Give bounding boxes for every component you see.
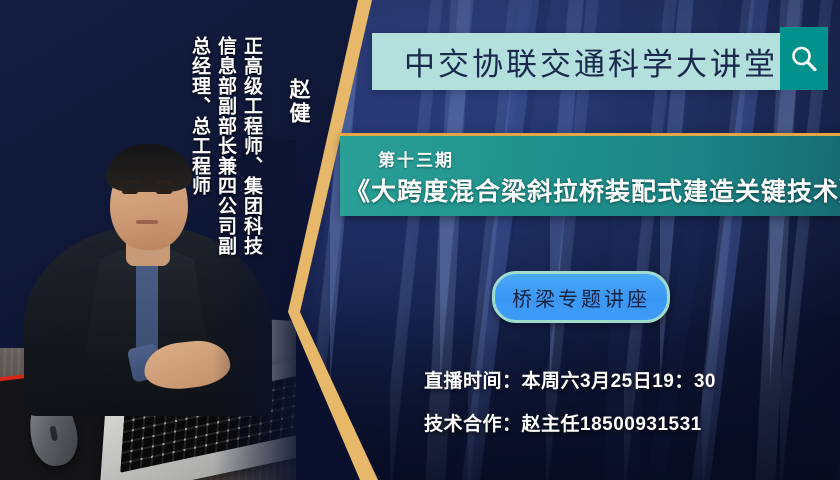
header-banner: 中交协联交通科学大讲堂 — [372, 33, 780, 90]
episode-number: 第十三期 — [378, 146, 454, 171]
contact-text: 技术合作：赵主任18500931531 — [424, 409, 702, 436]
mouth — [136, 220, 158, 224]
poster-root: 赵健 正高级工程师、集团科技 信息部副部长兼四公司副 总经理、总工程师 中交协联… — [0, 0, 840, 480]
speaker-figure — [18, 140, 278, 416]
speaker-title-line-3: 总经理、总工程师 — [190, 36, 209, 196]
lecture-title-band: 第十三期 《大跨度混合梁斜拉桥装配式建造关键技术》 — [340, 133, 840, 216]
search-icon — [789, 44, 819, 74]
eyebrow-left — [120, 180, 139, 184]
speaker-title-line-1: 正高级工程师、集团科技 — [242, 36, 261, 256]
speaker-title-line-2: 信息部副部长兼四公司副 — [216, 36, 235, 256]
header-title: 中交协联交通科学大讲堂 — [372, 39, 778, 84]
lecture-title: 《大跨度混合梁斜拉桥装配式建造关键技术》 — [345, 172, 835, 208]
eyebrow-right — [154, 180, 173, 184]
eye-right — [156, 189, 172, 194]
hair — [106, 144, 192, 192]
live-time-text: 直播时间：本周六3月25日19：30 — [424, 366, 716, 393]
eye-left — [122, 189, 138, 194]
search-button[interactable] — [780, 27, 828, 90]
speaker-name: 赵健 — [288, 78, 309, 126]
topic-badge[interactable]: 桥梁专题讲座 — [492, 271, 670, 323]
topic-badge-label: 桥梁专题讲座 — [512, 283, 650, 312]
